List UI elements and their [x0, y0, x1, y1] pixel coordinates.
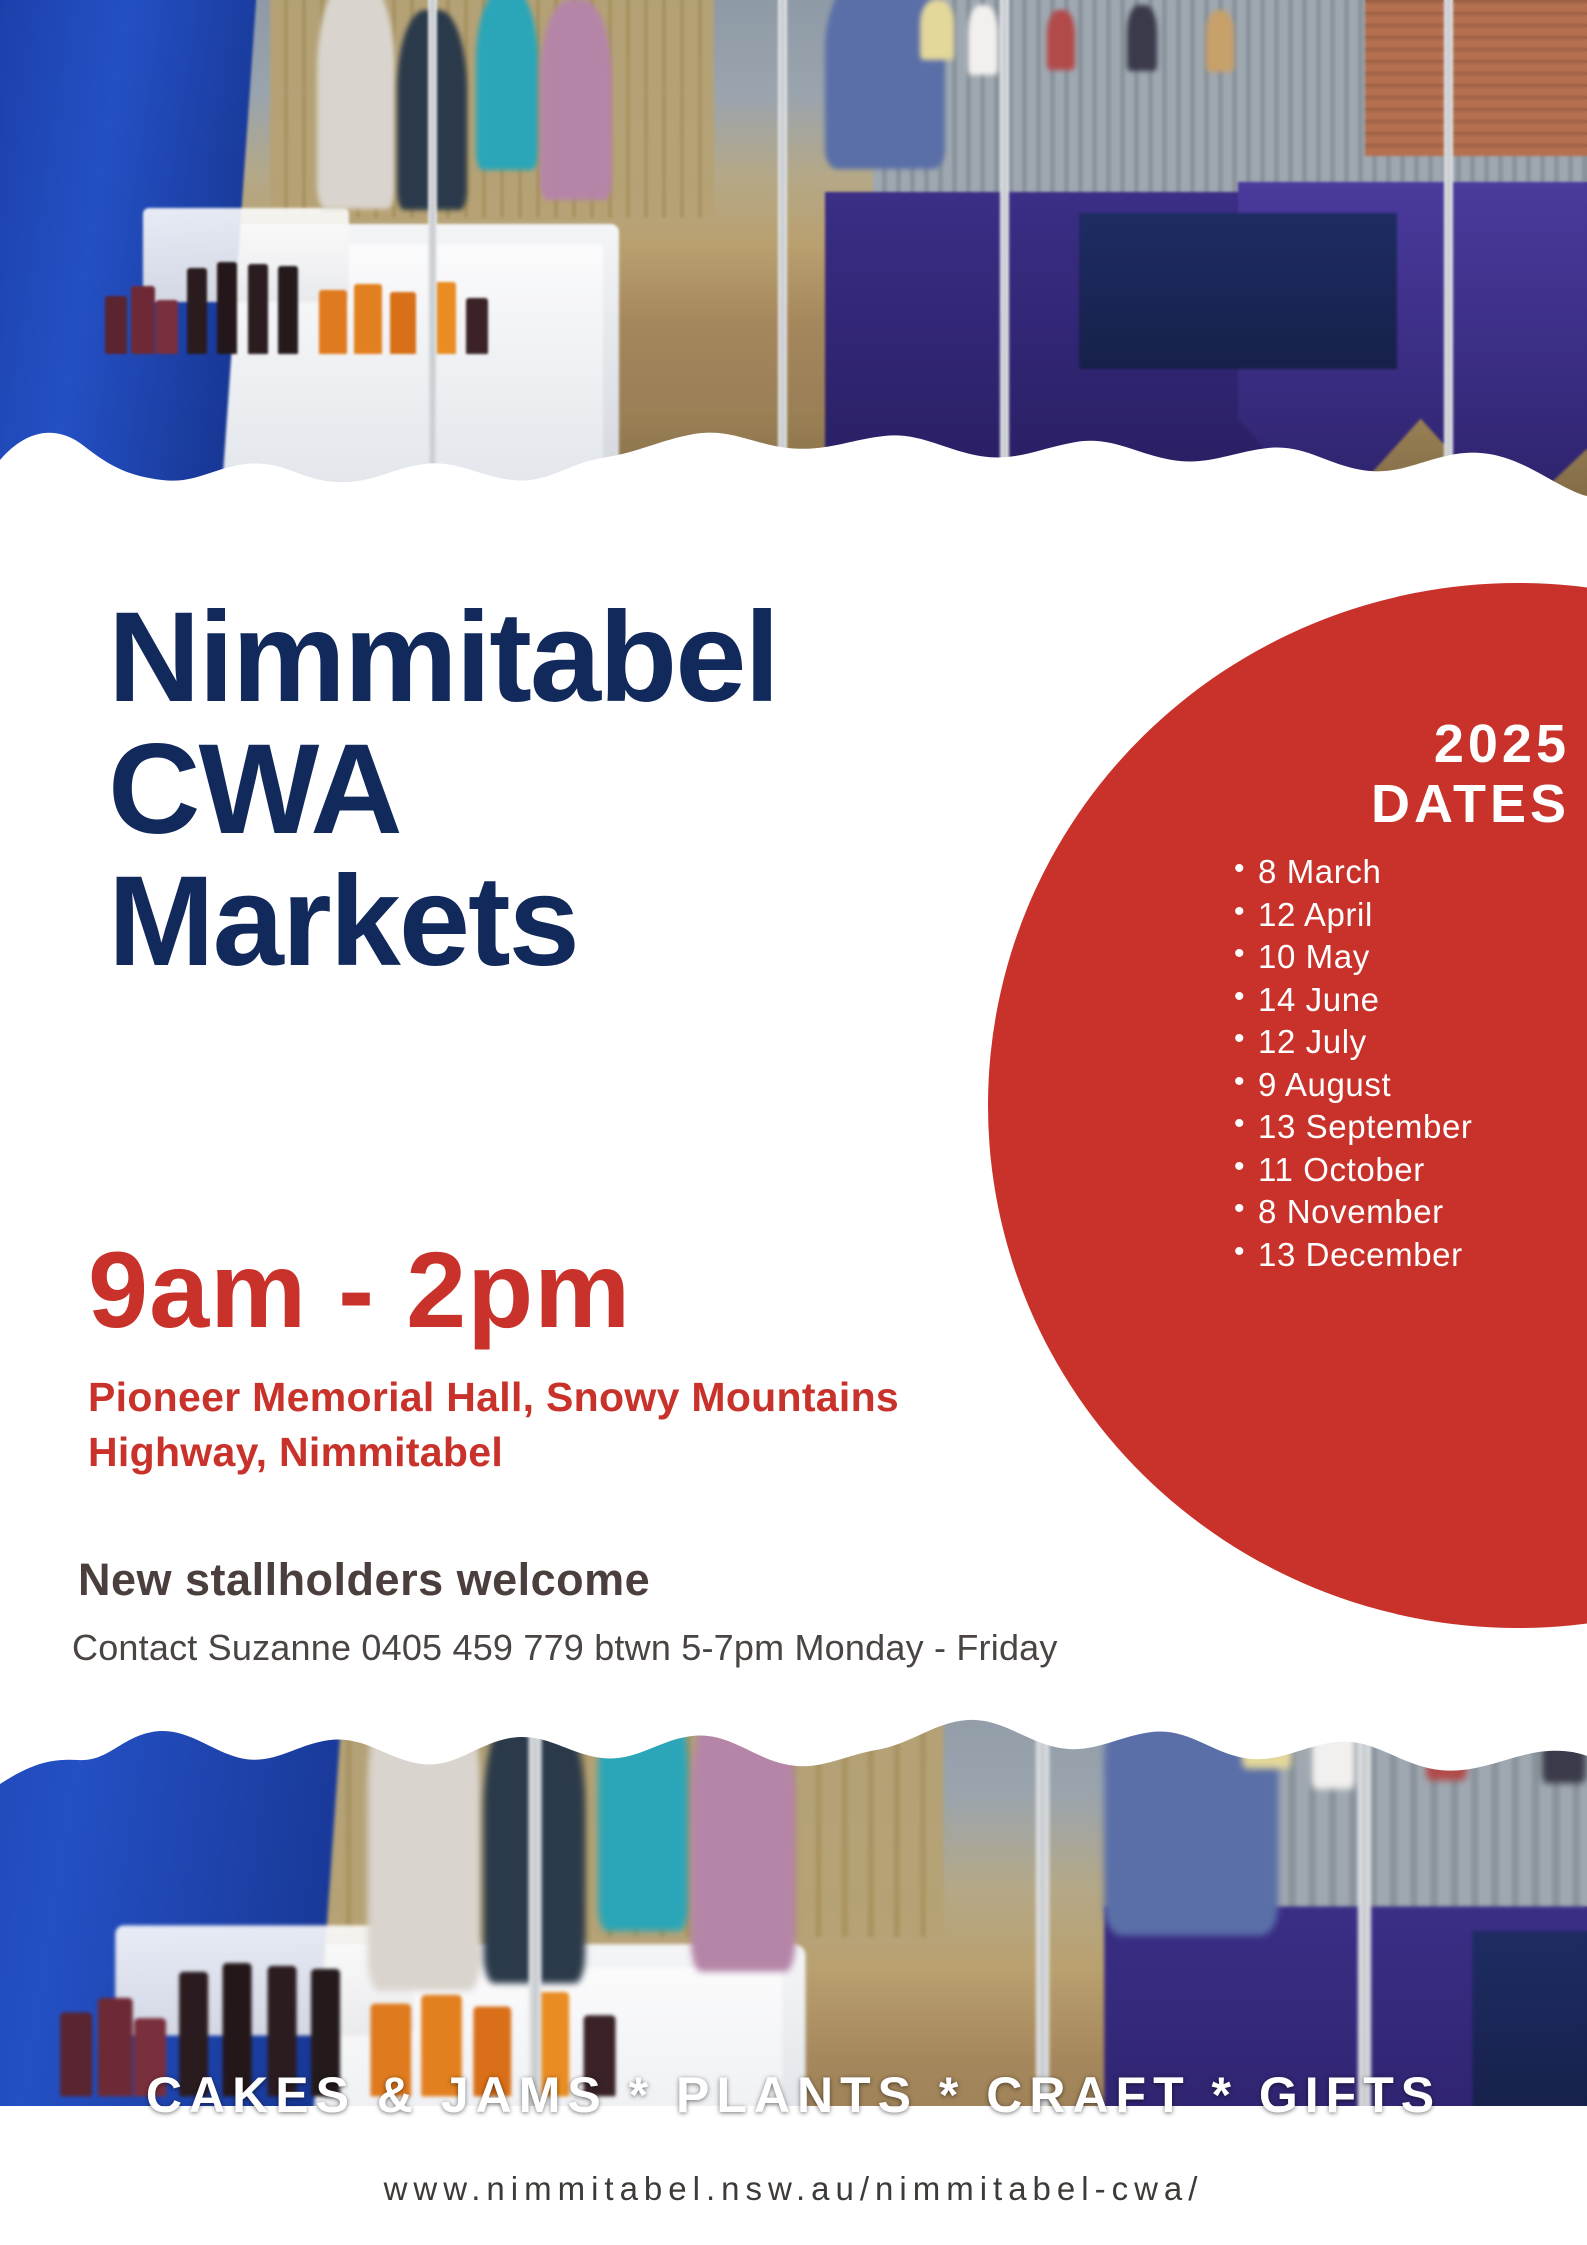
contact-details: Contact Suzanne 0405 459 779 btwn 5-7pm …: [72, 1627, 1058, 1669]
title-line-1: Nimmitabel: [108, 592, 988, 724]
top-market-photo: [0, 0, 1587, 520]
list-item: 12 July: [1230, 1021, 1570, 1064]
title-line-2: CWA: [108, 724, 988, 856]
list-item: 8 March: [1230, 851, 1570, 894]
list-item: 9 August: [1230, 1064, 1570, 1107]
dates-panel-title: 2025 DATES: [1230, 714, 1570, 835]
dates-label: DATES: [1230, 774, 1570, 834]
poster-canvas: Nimmitabel CWA Markets 9am - 2pm Pioneer…: [0, 0, 1587, 2245]
market-hours: 9am - 2pm: [88, 1236, 631, 1344]
venue-address: Pioneer Memorial Hall, Snowy Mountains H…: [88, 1370, 968, 1481]
product-banner: CAKES & JAMS * PLANTS * CRAFT * GIFTS: [0, 2066, 1587, 2124]
website-url[interactable]: www.nimmitabel.nsw.au/nimmitabel-cwa/: [0, 2170, 1587, 2208]
list-item: 11 October: [1230, 1149, 1570, 1192]
page-title: Nimmitabel CWA Markets: [108, 592, 988, 987]
list-item: 13 September: [1230, 1106, 1570, 1149]
list-item: 14 June: [1230, 979, 1570, 1022]
market-dates-list: 8 March 12 April 10 May 14 June 12 July …: [1230, 851, 1570, 1277]
bottom-market-photo: [0, 1700, 1587, 2120]
list-item: 8 November: [1230, 1191, 1570, 1234]
list-item: 13 December: [1230, 1234, 1570, 1277]
list-item: 10 May: [1230, 936, 1570, 979]
list-item: 12 April: [1230, 894, 1570, 937]
stallholders-note: New stallholders welcome: [78, 1554, 650, 1606]
title-line-3: Markets: [108, 856, 988, 988]
dates-panel: 2025 DATES 8 March 12 April 10 May 14 Ju…: [1230, 714, 1570, 1277]
dates-year: 2025: [1230, 714, 1570, 774]
